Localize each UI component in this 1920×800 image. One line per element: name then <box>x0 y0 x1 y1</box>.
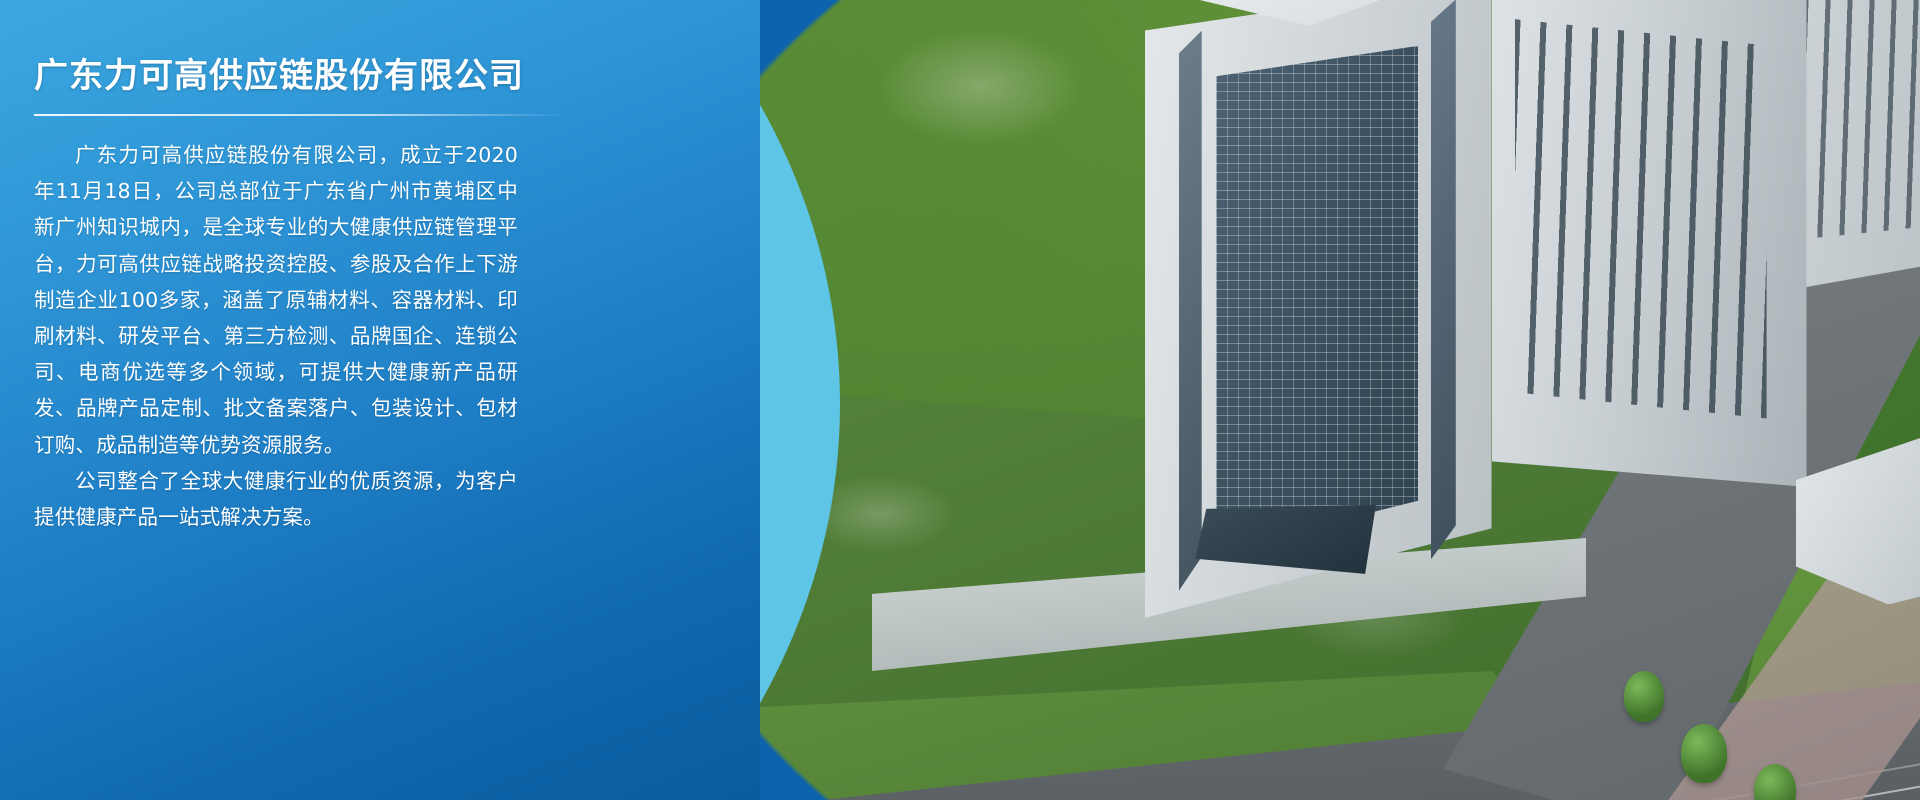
title-divider <box>34 114 568 116</box>
photo-front-curtain-wall <box>1216 46 1418 551</box>
photo-tree <box>1624 671 1664 722</box>
photo-tree <box>1681 724 1727 783</box>
description-paragraph-2: 公司整合了全球大健康行业的优质资源，为客户提供健康产品一站式解决方案。 <box>34 463 518 535</box>
banner-content: 广东力可高供应链股份有限公司 广东力可高供应链股份有限公司，成立于2020年11… <box>0 0 620 800</box>
photo-front-fin-right <box>1431 0 1456 571</box>
description-block: 广东力可高供应链股份有限公司，成立于2020年11月18日，公司总部位于广东省广… <box>34 137 518 535</box>
description-paragraph-1: 广东力可高供应链股份有限公司，成立于2020年11月18日，公司总部位于广东省广… <box>34 137 518 463</box>
company-profile-banner: 广东力可高供应链股份有限公司 广东力可高供应链股份有限公司，成立于2020年11… <box>0 0 1920 800</box>
page-title: 广东力可高供应链股份有限公司 <box>34 54 620 100</box>
photo-front-fin-left <box>1179 19 1202 591</box>
photo-right-tower-windows <box>1515 6 1767 445</box>
